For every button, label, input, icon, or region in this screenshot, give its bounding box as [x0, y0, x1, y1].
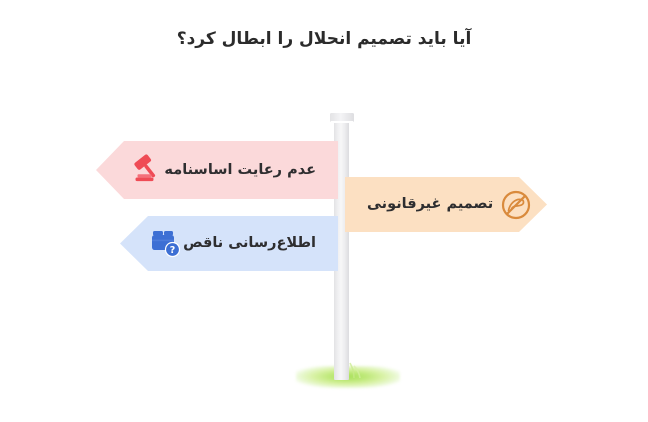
svg-text:?: ? [170, 245, 176, 256]
sign-notice[interactable]: اطلاع‌رسانی ناقص ? [120, 216, 338, 271]
prohibited-icon [499, 188, 533, 222]
sign-statute-label: عدم رعایت اساسنامه [164, 163, 316, 178]
sign-illegal-label: تصمیم غیرقانونی [367, 197, 493, 212]
sign-statute[interactable]: عدم رعایت اساسنامه [96, 141, 338, 199]
signpost-infographic: آیا باید تصمیم انحلال را ابطال کرد؟ عدم … [0, 0, 648, 422]
signpost-cap-line [331, 121, 353, 123]
gavel-icon [130, 153, 164, 187]
page-title: آیا باید تصمیم انحلال را ابطال کرد؟ [0, 28, 648, 52]
sign-notice-label: اطلاع‌رسانی ناقص [183, 236, 316, 251]
folder-question-icon: ? [149, 228, 183, 260]
sign-illegal[interactable]: تصمیم غیرقانونی [345, 177, 547, 232]
